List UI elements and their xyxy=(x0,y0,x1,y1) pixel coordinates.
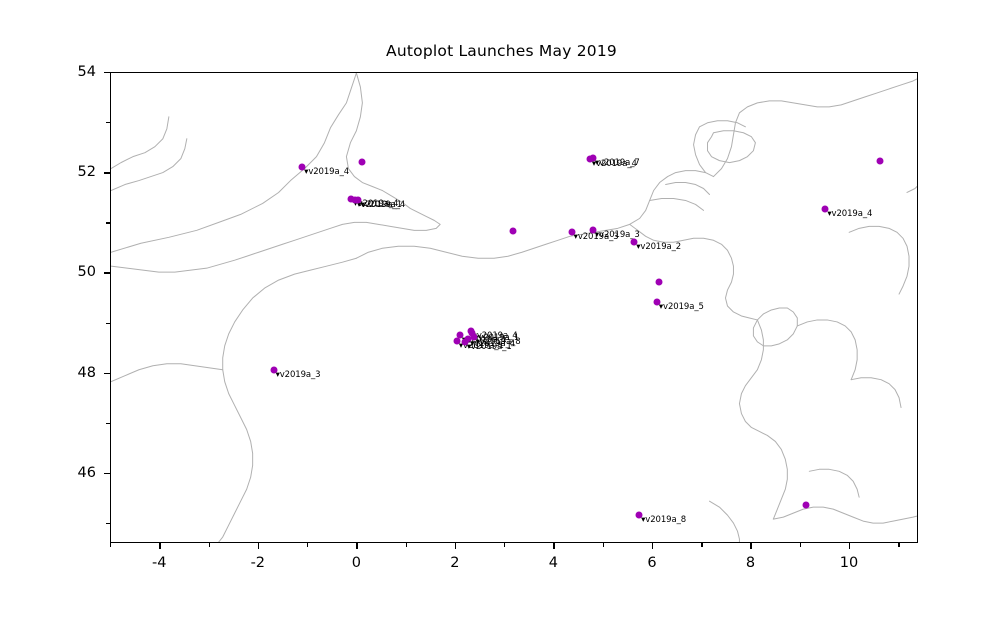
y-axis-tick-label: 46 xyxy=(64,465,96,481)
x-axis-tick-label: 0 xyxy=(352,555,361,571)
y-axis-tick-label: 50 xyxy=(64,264,96,280)
data-point-label: ▾v2019a_4 xyxy=(592,159,637,169)
chart-title: Autoplot Launches May 2019 xyxy=(0,42,1003,60)
map-axes: ▾v2019a_4▾v2019a_4▾v2019a_1▾v2019a_4▾v20… xyxy=(110,72,918,543)
x-axis-minor-tick xyxy=(504,543,505,547)
data-point-label: ▾v2019a_5 xyxy=(659,302,704,312)
x-axis-tick xyxy=(849,543,850,549)
data-point-marker xyxy=(802,501,809,508)
data-point-label: ▾v2019a_8 xyxy=(641,515,686,525)
y-axis-tick-label: 54 xyxy=(64,64,96,80)
data-point-marker xyxy=(359,159,366,166)
y-axis-tick xyxy=(104,72,110,73)
data-point-label: ▾v2019a_3 xyxy=(276,370,321,380)
x-axis-tick xyxy=(258,543,259,549)
x-axis-minor-tick xyxy=(307,543,308,547)
x-axis-tick-label: 6 xyxy=(647,555,656,571)
y-axis-tick xyxy=(104,272,110,273)
x-axis-minor-tick xyxy=(603,543,604,547)
data-point-label: ▾v2019a_1 xyxy=(467,342,512,352)
data-point-label: ▾v2019a_4 xyxy=(827,209,872,219)
x-axis-tick xyxy=(356,543,357,549)
x-axis-minor-tick xyxy=(110,543,111,547)
data-point-label: ▾v2019a_4 xyxy=(360,200,405,210)
y-axis-tick xyxy=(104,172,110,173)
x-axis-tick-label: -4 xyxy=(152,555,166,571)
x-axis-minor-tick xyxy=(209,543,210,547)
x-axis-tick-label: -2 xyxy=(251,555,265,571)
x-axis-minor-tick xyxy=(898,543,899,547)
x-axis-tick xyxy=(652,543,653,549)
x-axis-tick-label: 8 xyxy=(746,555,755,571)
figure-canvas: Autoplot Launches May 2019 xyxy=(0,0,1003,633)
y-axis-minor-tick xyxy=(106,423,110,424)
x-axis-tick-label: 10 xyxy=(840,555,858,571)
x-axis-minor-tick xyxy=(800,543,801,547)
x-axis-minor-tick xyxy=(701,543,702,547)
data-point-label: ▾v2019a_4 xyxy=(304,167,349,177)
y-axis-minor-tick xyxy=(106,122,110,123)
data-point-marker xyxy=(876,157,883,164)
x-axis-tick xyxy=(553,543,554,549)
data-point-marker xyxy=(655,279,662,286)
x-axis-tick-label: 2 xyxy=(450,555,459,571)
x-axis-minor-tick xyxy=(406,543,407,547)
y-axis-tick xyxy=(104,373,110,374)
data-point-marker xyxy=(509,227,516,234)
x-axis-tick xyxy=(455,543,456,549)
data-point-label: ▾v2019a_2 xyxy=(636,242,681,252)
y-axis-tick-label: 52 xyxy=(64,164,96,180)
y-axis-tick-label: 48 xyxy=(64,365,96,381)
y-axis-minor-tick xyxy=(106,523,110,524)
x-axis-tick xyxy=(750,543,751,549)
coastline-map xyxy=(111,73,917,542)
y-axis-tick xyxy=(104,473,110,474)
y-axis-minor-tick xyxy=(106,323,110,324)
x-axis-tick xyxy=(159,543,160,549)
x-axis-tick-label: 4 xyxy=(549,555,558,571)
y-axis-minor-tick xyxy=(106,222,110,223)
